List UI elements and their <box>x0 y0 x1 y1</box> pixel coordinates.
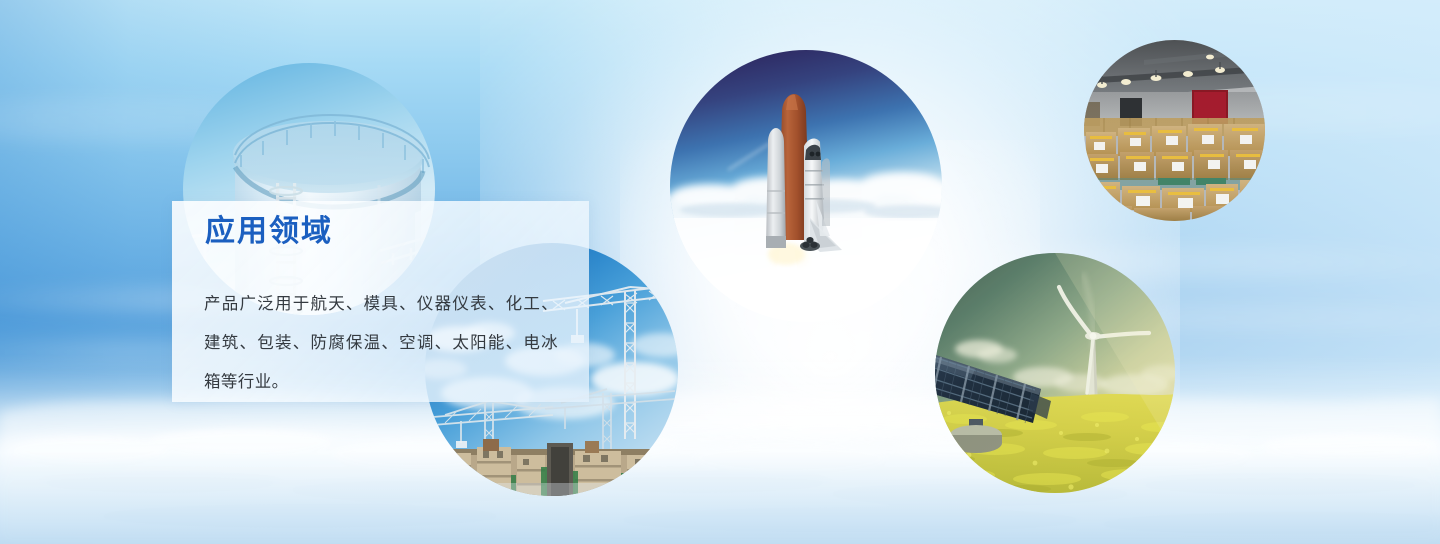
circle-image-solar-wind-energy <box>935 253 1175 493</box>
application-fields-banner: 应用领域 产品广泛用于航天、模具、仪器仪表、化工、建筑、包装、防腐保温、空调、太… <box>0 0 1440 544</box>
application-fields-text-panel: 应用领域 产品广泛用于航天、模具、仪器仪表、化工、建筑、包装、防腐保温、空调、太… <box>172 201 589 402</box>
page-title: 应用领域 <box>205 217 333 247</box>
application-fields-description: 产品广泛用于航天、模具、仪器仪表、化工、建筑、包装、防腐保温、空调、太阳能、电冰… <box>204 284 558 401</box>
circle-image-warehouse-boxes <box>1084 40 1265 221</box>
circle-image-rocket-launch <box>670 50 942 322</box>
